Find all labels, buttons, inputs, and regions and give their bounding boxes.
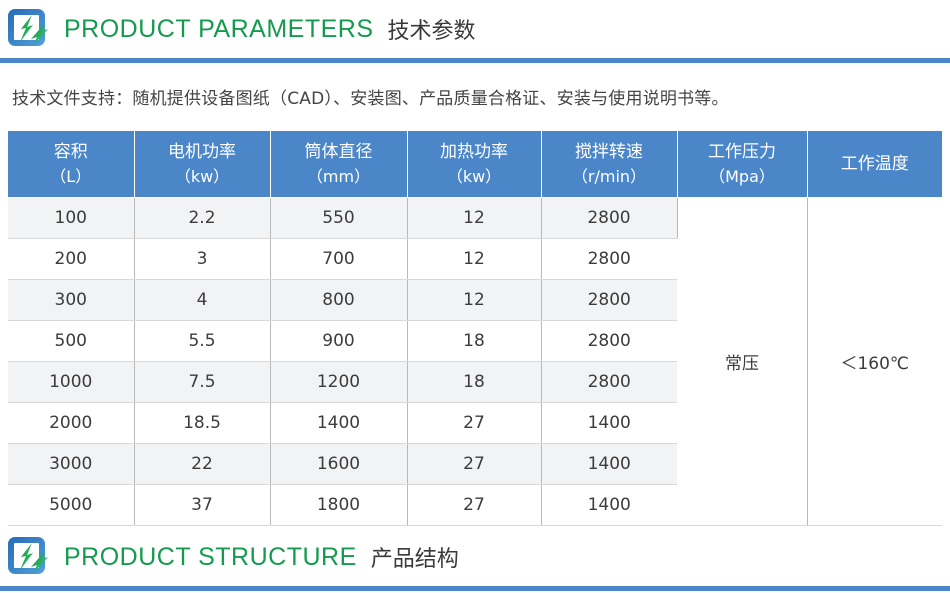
cell-barrel-diameter: 1200 — [270, 362, 407, 403]
col-header-barrel-diameter-name: 筒体直径 — [305, 142, 373, 162]
cell-stir-speed: 2800 — [541, 321, 677, 362]
col-header-heating-power: 加热功率 （kw） — [407, 131, 541, 198]
cell-volume: 5000 — [8, 485, 134, 526]
cell-heating-power: 27 — [407, 444, 541, 485]
col-header-stir-speed-unit: （r/min） — [542, 165, 677, 188]
col-header-working-temperature-name: 工作温度 — [841, 154, 909, 174]
section-divider-parameters — [0, 58, 950, 63]
col-header-stir-speed: 搅拌转速 （r/min） — [541, 131, 677, 198]
cell-heating-power: 12 — [407, 280, 541, 321]
cell-volume: 500 — [8, 321, 134, 362]
section-title-cn-structure: 产品结构 — [371, 541, 459, 573]
cell-heating-power: 27 — [407, 403, 541, 444]
cell-stir-speed: 1400 — [541, 444, 677, 485]
cell-volume: 1000 — [8, 362, 134, 403]
cell-heating-power: 12 — [407, 198, 541, 239]
brand-bolt-square-icon — [8, 537, 50, 577]
cell-volume: 100 — [8, 198, 134, 239]
cell-motor-power: 2.2 — [134, 198, 270, 239]
col-header-volume: 容积 （L） — [8, 131, 134, 198]
cell-working-temperature-merged: ＜160℃ — [807, 198, 942, 526]
section-title-en-parameters: PRODUCT PARAMETERS — [64, 15, 374, 44]
section-header-structure: PRODUCT STRUCTURE 产品结构 — [0, 528, 950, 586]
cell-motor-power: 22 — [134, 444, 270, 485]
col-header-heating-power-name: 加热功率 — [440, 142, 508, 162]
col-header-motor-power-name: 电机功率 — [168, 142, 236, 162]
col-header-barrel-diameter-unit: （mm） — [271, 165, 407, 188]
cell-motor-power: 3 — [134, 239, 270, 280]
intro-paragraph: 技术文件支持：随机提供设备图纸（CAD）、安装图、产品质量合格证、安装与使用说明… — [0, 58, 950, 131]
cell-barrel-diameter: 900 — [270, 321, 407, 362]
brand-bolt-square-icon — [8, 9, 50, 49]
cell-volume: 200 — [8, 239, 134, 280]
cell-stir-speed: 2800 — [541, 239, 677, 280]
section-title-cn-parameters: 技术参数 — [388, 13, 476, 45]
cell-stir-speed: 1400 — [541, 485, 677, 526]
cell-barrel-diameter: 1800 — [270, 485, 407, 526]
cell-working-pressure-merged: 常压 — [677, 198, 807, 526]
col-header-working-pressure-name: 工作压力 — [708, 142, 776, 162]
cell-motor-power: 7.5 — [134, 362, 270, 403]
col-header-barrel-diameter: 筒体直径 （mm） — [270, 131, 407, 198]
cell-heating-power: 18 — [407, 321, 541, 362]
cell-motor-power: 5.5 — [134, 321, 270, 362]
parameters-table: 容积 （L） 电机功率 （kw） 筒体直径 （mm） 加热功率 （kw） 搅拌转… — [8, 131, 942, 526]
cell-stir-speed: 2800 — [541, 198, 677, 239]
section-header-parameters: PRODUCT PARAMETERS 技术参数 — [0, 0, 950, 58]
cell-heating-power: 27 — [407, 485, 541, 526]
cell-barrel-diameter: 550 — [270, 198, 407, 239]
cell-stir-speed: 2800 — [541, 362, 677, 403]
cell-stir-speed: 1400 — [541, 403, 677, 444]
col-header-stir-speed-name: 搅拌转速 — [575, 142, 643, 162]
section-title-en-structure: PRODUCT STRUCTURE — [64, 543, 357, 572]
col-header-volume-unit: （L） — [8, 165, 134, 188]
cell-motor-power: 4 — [134, 280, 270, 321]
cell-heating-power: 18 — [407, 362, 541, 403]
col-header-motor-power: 电机功率 （kw） — [134, 131, 270, 198]
section-divider-structure — [0, 586, 950, 591]
col-header-working-pressure: 工作压力 （Mpa） — [677, 131, 807, 198]
cell-barrel-diameter: 1600 — [270, 444, 407, 485]
cell-volume: 3000 — [8, 444, 134, 485]
col-header-heating-power-unit: （kw） — [408, 165, 541, 188]
cell-barrel-diameter: 700 — [270, 239, 407, 280]
table-header-row: 容积 （L） 电机功率 （kw） 筒体直径 （mm） 加热功率 （kw） 搅拌转… — [8, 131, 942, 198]
cell-volume: 2000 — [8, 403, 134, 444]
col-header-working-pressure-unit: （Mpa） — [678, 165, 807, 188]
table-body: 100 2.2 550 12 2800 常压 ＜160℃ 200 3 700 1… — [8, 198, 942, 526]
cell-barrel-diameter: 800 — [270, 280, 407, 321]
cell-barrel-diameter: 1400 — [270, 403, 407, 444]
col-header-motor-power-unit: （kw） — [135, 165, 270, 188]
table-row: 100 2.2 550 12 2800 常压 ＜160℃ — [8, 198, 942, 239]
cell-motor-power: 18.5 — [134, 403, 270, 444]
cell-stir-speed: 2800 — [541, 280, 677, 321]
cell-volume: 300 — [8, 280, 134, 321]
cell-motor-power: 37 — [134, 485, 270, 526]
col-header-working-temperature: 工作温度 — [807, 131, 942, 198]
cell-heating-power: 12 — [407, 239, 541, 280]
parameters-table-wrapper: 容积 （L） 电机功率 （kw） 筒体直径 （mm） 加热功率 （kw） 搅拌转… — [0, 131, 950, 526]
col-header-volume-name: 容积 — [54, 142, 88, 162]
